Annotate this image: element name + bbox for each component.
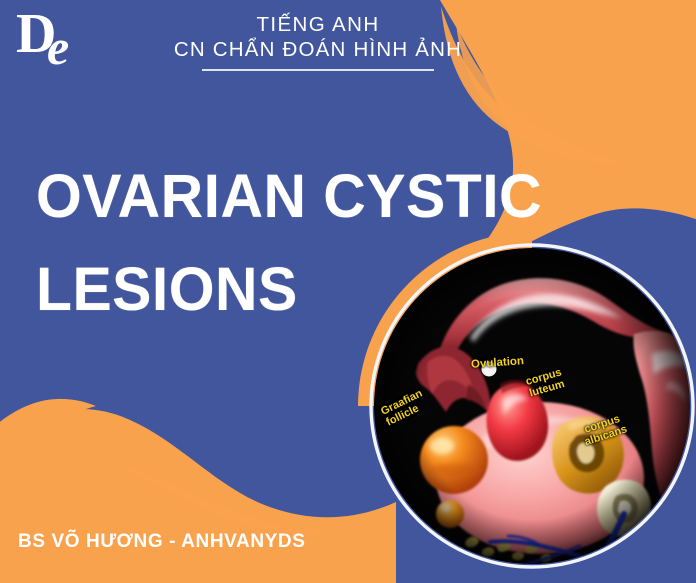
header-title-block: TIẾNG ANH CN CHẨN ĐOÁN HÌNH ẢNH xyxy=(108,12,528,71)
header-line-2: CN CHẨN ĐOÁN HÌNH ẢNH xyxy=(108,37,528,62)
poster-header: D e TIẾNG ANH CN CHẨN ĐOÁN HÌNH ẢNH xyxy=(0,0,696,92)
author-credit: BS VÕ HƯƠNG - ANHVANYDS xyxy=(18,531,306,553)
page-title-line-1: OVARIAN CYSTIC xyxy=(36,150,542,243)
header-divider xyxy=(202,69,434,71)
brand-logo: D e xyxy=(16,8,102,74)
logo-letter-e: e xyxy=(47,22,69,72)
page-title: OVARIAN CYSTIC LESIONS xyxy=(36,150,542,336)
poster-slide: D e TIẾNG ANH CN CHẨN ĐOÁN HÌNH ẢNH OVAR… xyxy=(0,0,696,583)
page-title-line-2: LESIONS xyxy=(36,243,542,336)
header-line-1: TIẾNG ANH xyxy=(108,12,528,37)
